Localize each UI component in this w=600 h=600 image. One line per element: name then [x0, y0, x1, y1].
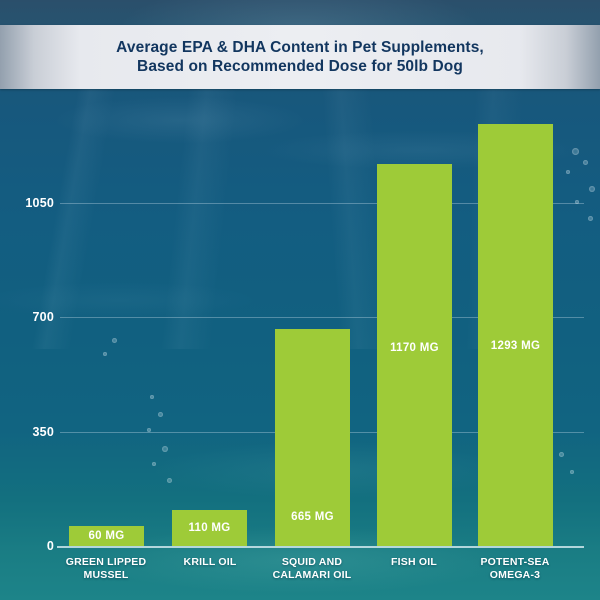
page-title: Average EPA & DHA Content in Pet Supplem… [116, 38, 484, 76]
bar-fish-oil[interactable]: 1170 MG [377, 164, 452, 546]
bar-chart-plot-area: 1050 700 350 0 60 MG 110 MG 665 MG 1170 … [0, 89, 600, 600]
y-axis-tick-350: 350 [4, 425, 54, 439]
chart-infographic: Average EPA & DHA Content in Pet Supplem… [0, 0, 600, 600]
x-axis-label-green-lipped-mussel: GREEN LIPPED MUSSEL [46, 556, 166, 582]
bar-krill-oil[interactable]: 110 MG [172, 510, 247, 546]
y-axis-tick-1050: 1050 [4, 196, 54, 210]
y-axis-tick-0: 0 [4, 539, 54, 553]
y-axis-tick-700: 700 [4, 310, 54, 324]
title-banner: Average EPA & DHA Content in Pet Supplem… [0, 25, 600, 89]
bar-value-green-lipped-mussel: 60 MG [69, 530, 144, 542]
bar-value-squid-and-calamari-oil: 665 MG [275, 511, 350, 523]
bar-green-lipped-mussel[interactable]: 60 MG [69, 526, 144, 546]
gridline-zero-axis [57, 546, 584, 548]
bar-value-krill-oil: 110 MG [172, 522, 247, 534]
bar-value-potent-sea-omega-3: 1293 MG [478, 340, 553, 352]
x-axis-label-potent-sea-omega-3: POTENT-SEA OMEGA-3 [455, 556, 575, 582]
bar-value-fish-oil: 1170 MG [377, 342, 452, 354]
bar-potent-sea-omega-3[interactable]: 1293 MG [478, 124, 553, 546]
bar-squid-and-calamari-oil[interactable]: 665 MG [275, 329, 350, 546]
